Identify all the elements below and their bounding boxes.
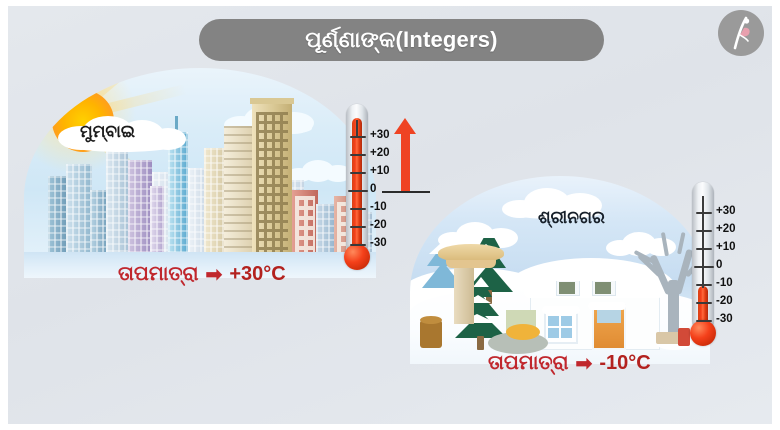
thermometer-label: +20 — [370, 148, 390, 160]
haystack — [506, 324, 540, 340]
thermometer-label: -30 — [716, 314, 733, 326]
thermometer-label: -30 — [370, 238, 387, 250]
tree-stump — [420, 320, 442, 348]
dormer-window — [556, 270, 578, 294]
thermometer-label: +10 — [370, 166, 390, 178]
building — [66, 164, 92, 264]
sled — [656, 328, 690, 346]
thermometer-mercury — [352, 118, 362, 256]
thermometer-tick — [696, 230, 712, 232]
arrow-shaft — [401, 133, 410, 191]
city-label-srinagar: ଶ୍ରୀନଗର — [538, 208, 605, 228]
dormer-window — [592, 270, 614, 294]
thermometer-srinagar: +30 +20 +10 0 -10 -20 -30 — [692, 182, 772, 352]
page-title-text: ପୂର୍ଣ୍ଣାଙ୍କ(Integers) — [305, 27, 497, 53]
arrow-head-icon — [394, 118, 416, 134]
thermometer-label: +20 — [716, 224, 736, 236]
thermometer-tick — [350, 208, 366, 210]
thermometer-label: -20 — [716, 296, 733, 308]
scene-mumbai: ମୁମ୍ବାଇ — [24, 68, 376, 278]
arrow-right-icon: ➡ — [576, 351, 593, 376]
temperature-label: ତାପମାତ୍ରା — [118, 263, 199, 286]
thermometer-bulb — [690, 320, 716, 346]
building — [168, 132, 188, 264]
building-roof — [250, 98, 294, 104]
thermometer-label: +30 — [370, 130, 390, 142]
thermometer-tick — [696, 212, 712, 214]
temperature-caption-srinagar: ତାପମାତ୍ରା ➡ -10°C — [488, 351, 651, 376]
temperature-value: +30°C — [229, 263, 285, 286]
thermometer-label: -10 — [716, 278, 733, 290]
building — [224, 126, 254, 264]
slide-canvas: ପୂର୍ଣ୍ଣାଙ୍କ(Integers) — [8, 6, 772, 424]
thermometer-tick — [350, 154, 366, 156]
building — [106, 138, 128, 264]
thermometer-tick — [696, 320, 712, 322]
thermometer-bulb — [344, 244, 370, 270]
house-window — [544, 312, 578, 344]
thermometer-tick — [696, 284, 712, 286]
temperature-value: -10°C — [599, 352, 650, 375]
arrow-right-icon: ➡ — [206, 262, 223, 287]
cloud-icon — [286, 160, 352, 182]
thermometer-label: -10 — [370, 202, 387, 214]
logo-mark-icon — [718, 10, 764, 56]
house-door — [592, 304, 626, 350]
thermometer-tick — [350, 226, 366, 228]
thermometer-label: +30 — [716, 206, 736, 218]
thermometer-label: -20 — [370, 220, 387, 232]
thermometer-stem — [702, 196, 704, 288]
shelter-post — [454, 266, 474, 324]
scene-srinagar: ଶ୍ରୀନଗର — [410, 176, 710, 364]
sky-arc-mumbai — [24, 68, 376, 278]
thermometer-tick — [350, 244, 366, 246]
thermometer-label: 0 — [716, 260, 722, 272]
positive-direction-arrow — [394, 118, 418, 196]
building — [128, 160, 152, 264]
thatch-shelter — [438, 244, 504, 268]
building — [204, 148, 226, 264]
building — [48, 176, 68, 264]
thermometer-label: +10 — [716, 242, 736, 254]
thermometer-tick — [350, 136, 366, 138]
thermometer-label: 0 — [370, 184, 376, 196]
thermometer-tick — [696, 248, 712, 250]
thermometer-tick — [696, 302, 712, 304]
page-title: ପୂର୍ଣ୍ଣାଙ୍କ(Integers) — [199, 19, 604, 61]
temperature-label: ତାପମାତ୍ରା — [488, 352, 569, 375]
sky-arc-srinagar — [410, 176, 710, 364]
brand-logo[interactable] — [718, 10, 766, 58]
building — [252, 104, 292, 264]
thermometer-tick — [350, 172, 366, 174]
temperature-caption-mumbai: ତାପମାତ୍ରା ➡ +30°C — [118, 262, 286, 287]
city-label-mumbai: ମୁମ୍ବାଇ — [80, 122, 135, 142]
